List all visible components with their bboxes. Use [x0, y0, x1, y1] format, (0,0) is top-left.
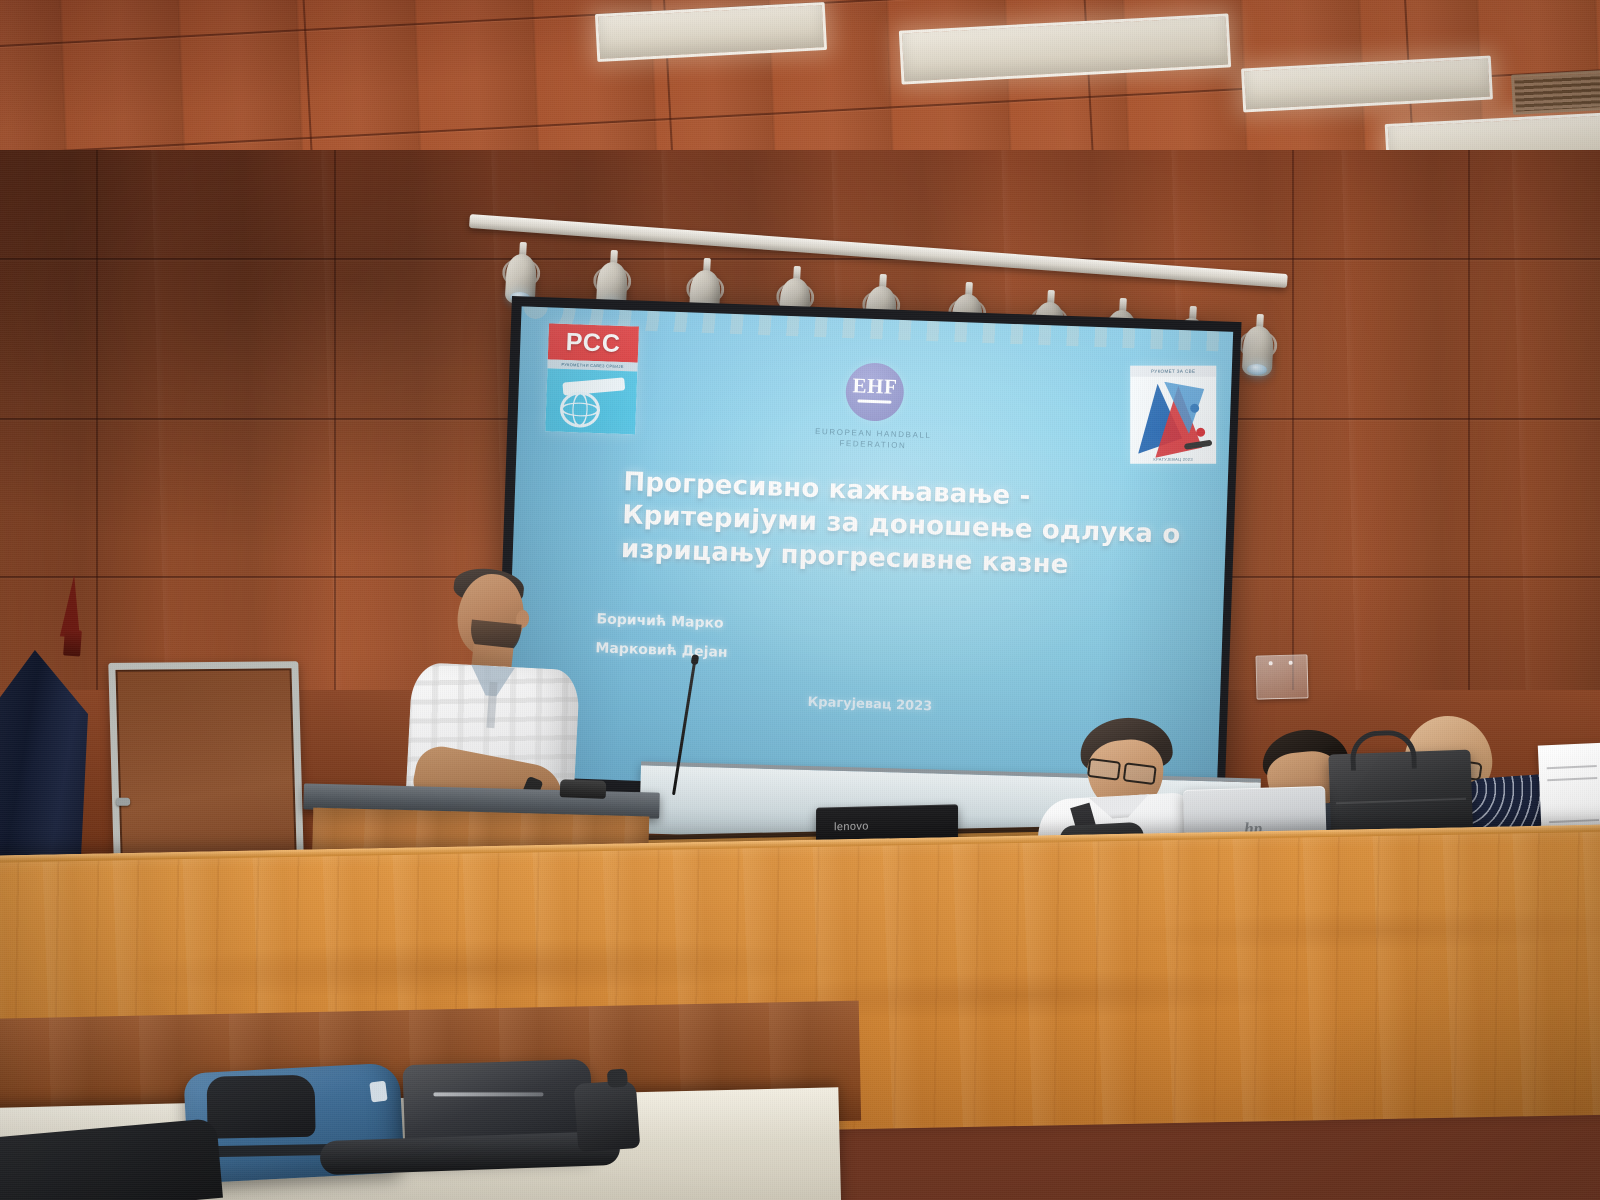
flag-pole	[63, 629, 82, 656]
event-logo-caption: РУКОМЕТ ЗА СВЕ	[1130, 366, 1216, 377]
event-logo-dot-red	[1196, 428, 1205, 437]
rss-logo-acronym: РСС	[565, 327, 621, 358]
track-spotlight	[1242, 321, 1275, 378]
bag-zipper	[433, 1092, 543, 1096]
rss-logo: РСС РУКОМЕТНИ САВЕЗ СРБИЈЕ	[545, 323, 639, 434]
ehf-logo-caption: EUROPEAN HANDBALL FEDERATION	[793, 425, 954, 453]
slide-place-year: Крагујевац 2023	[807, 695, 932, 714]
access-panel-latch[interactable]	[116, 798, 130, 806]
wall-seam	[0, 258, 1600, 260]
slide-author-2: Марковић Дејан	[595, 635, 728, 669]
rss-ball-icon	[559, 391, 600, 428]
microphone-base	[560, 779, 607, 799]
backpack-strap	[213, 1144, 337, 1157]
rss-logo-field	[545, 368, 637, 434]
backpack-inner-compartment	[207, 1075, 316, 1139]
slide-authors: Боричић Марко Марковић Дејан	[595, 605, 729, 668]
wall-sign-holder	[1255, 654, 1308, 699]
lenovo-logo: lenovo	[834, 820, 869, 833]
spotlight-head	[1242, 325, 1275, 377]
lecture-hall-photo: РСС РУКОМЕТНИ САВЕЗ СРБИЈЕ EHF EUROPEAN …	[0, 0, 1600, 1200]
event-logo-dot-blue	[1190, 404, 1199, 413]
rss-logo-band: РСС	[548, 323, 639, 362]
bag-flap-line	[1336, 798, 1466, 805]
ehf-logo: EHF EUROPEAN HANDBALL FEDERATION	[793, 360, 956, 453]
ehf-logo-acronym: EHF	[846, 373, 905, 400]
spotlight-lens-icon	[1247, 363, 1268, 375]
backpack-tag	[369, 1081, 387, 1103]
ehf-logo-disc: EHF	[845, 362, 905, 422]
event-logo-footer: КРАГУЈЕВАЦ 2023	[1130, 457, 1216, 462]
slide-author-1: Боричић Марко	[596, 605, 729, 639]
event-logo: РУКОМЕТ ЗА СВЕ КРАГУЈЕВАЦ 2023	[1130, 366, 1216, 464]
black-pouch	[574, 1080, 641, 1152]
ceiling-air-vent	[1511, 69, 1600, 115]
slide-title: Прогресивно кажњавање - Критеријуми за д…	[620, 466, 1183, 586]
